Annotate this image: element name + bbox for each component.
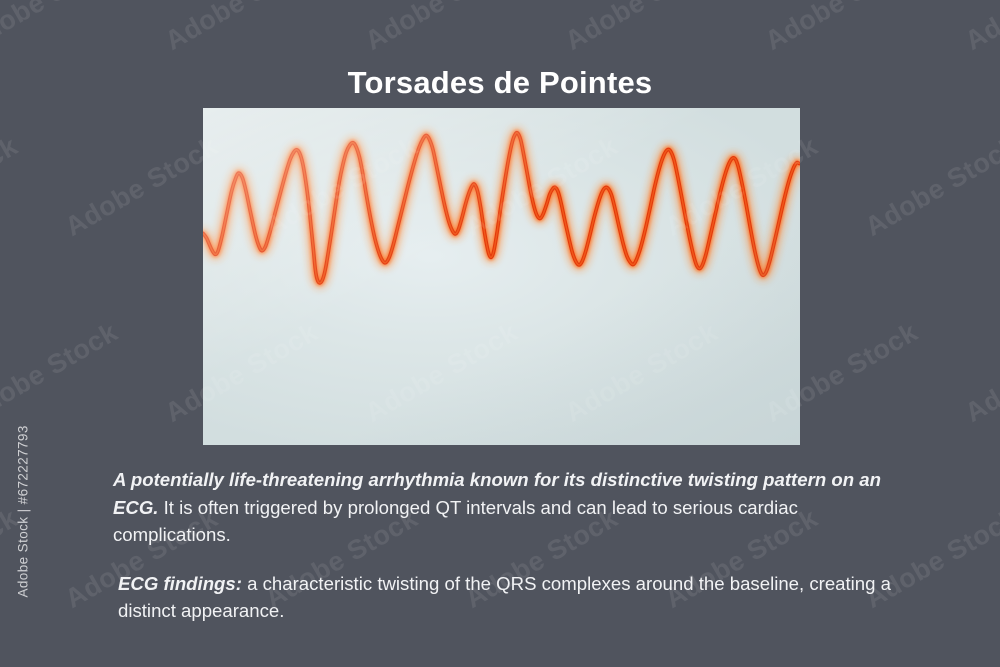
paragraph-2-lead: ECG findings: — [118, 573, 242, 594]
ecg-trace-group — [203, 133, 799, 283]
description-paragraph-1: A potentially life-threatening arrhythmi… — [113, 466, 913, 549]
paragraph-1-rest: It is often triggered by prolonged QT in… — [113, 497, 798, 546]
page-title: Torsades de Pointes — [0, 65, 1000, 101]
slide-root: Torsades de Pointes — [0, 0, 1000, 667]
stock-credit-label: Adobe Stock | #672227793 — [16, 388, 31, 598]
ecg-image-panel — [203, 108, 800, 445]
ecg-trace-highlight — [203, 133, 799, 283]
ecg-waveform-chart — [203, 108, 800, 309]
description-paragraph-2: ECG findings: a characteristic twisting … — [113, 570, 913, 625]
description-block: A potentially life-threatening arrhythmi… — [113, 466, 913, 625]
